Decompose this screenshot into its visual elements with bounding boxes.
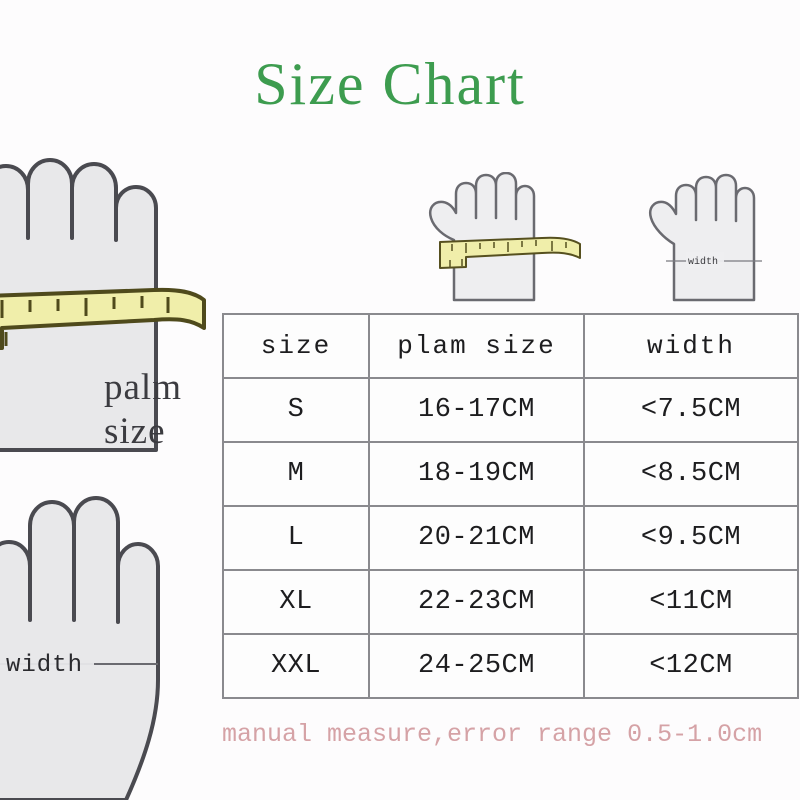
table-header-row: size plam size width [223, 314, 798, 378]
cell-palm: 18-19CM [369, 442, 584, 506]
glove-illustration-width-small: width [640, 172, 800, 307]
table-row: L 20-21CM <9.5CM [223, 506, 798, 570]
size-table: size plam size width S 16-17CM <7.5CM M … [222, 313, 799, 699]
palm-size-label: palm size [104, 366, 224, 454]
cell-width: <7.5CM [584, 378, 798, 442]
table-header-palm: plam size [369, 314, 584, 378]
table-row: XL 22-23CM <11CM [223, 570, 798, 634]
palm-size-label-line1: palm [104, 366, 224, 410]
cell-width: <11CM [584, 570, 798, 634]
palm-size-label-line2: size [104, 410, 224, 454]
table-row: S 16-17CM <7.5CM [223, 378, 798, 442]
cell-size: XXL [223, 634, 369, 698]
cell-width: <8.5CM [584, 442, 798, 506]
table-row: M 18-19CM <8.5CM [223, 442, 798, 506]
width-label-small-text: width [688, 256, 718, 268]
measurement-note: manual measure,error range 0.5-1.0cm [222, 718, 800, 752]
cell-size: S [223, 378, 369, 442]
table-row: XXL 24-25CM <12CM [223, 634, 798, 698]
cell-size: M [223, 442, 369, 506]
cell-size: L [223, 506, 369, 570]
glove-shape-small-palm [430, 173, 534, 300]
cell-width: <12CM [584, 634, 798, 698]
table-header-width: width [584, 314, 798, 378]
cell-palm: 16-17CM [369, 378, 584, 442]
page-title: Size Chart [0, 48, 780, 120]
glove-illustration-width-large: width [0, 470, 198, 800]
cell-size: XL [223, 570, 369, 634]
cell-palm: 20-21CM [369, 506, 584, 570]
cell-palm: 24-25CM [369, 634, 584, 698]
width-label-large-text: width [6, 652, 83, 679]
table-header-size: size [223, 314, 369, 378]
cell-palm: 22-23CM [369, 570, 584, 634]
glove-illustration-palm-small [418, 172, 596, 307]
glove-shape-small-width [650, 175, 754, 300]
size-chart-page: Size Chart [0, 0, 800, 800]
cell-width: <9.5CM [584, 506, 798, 570]
